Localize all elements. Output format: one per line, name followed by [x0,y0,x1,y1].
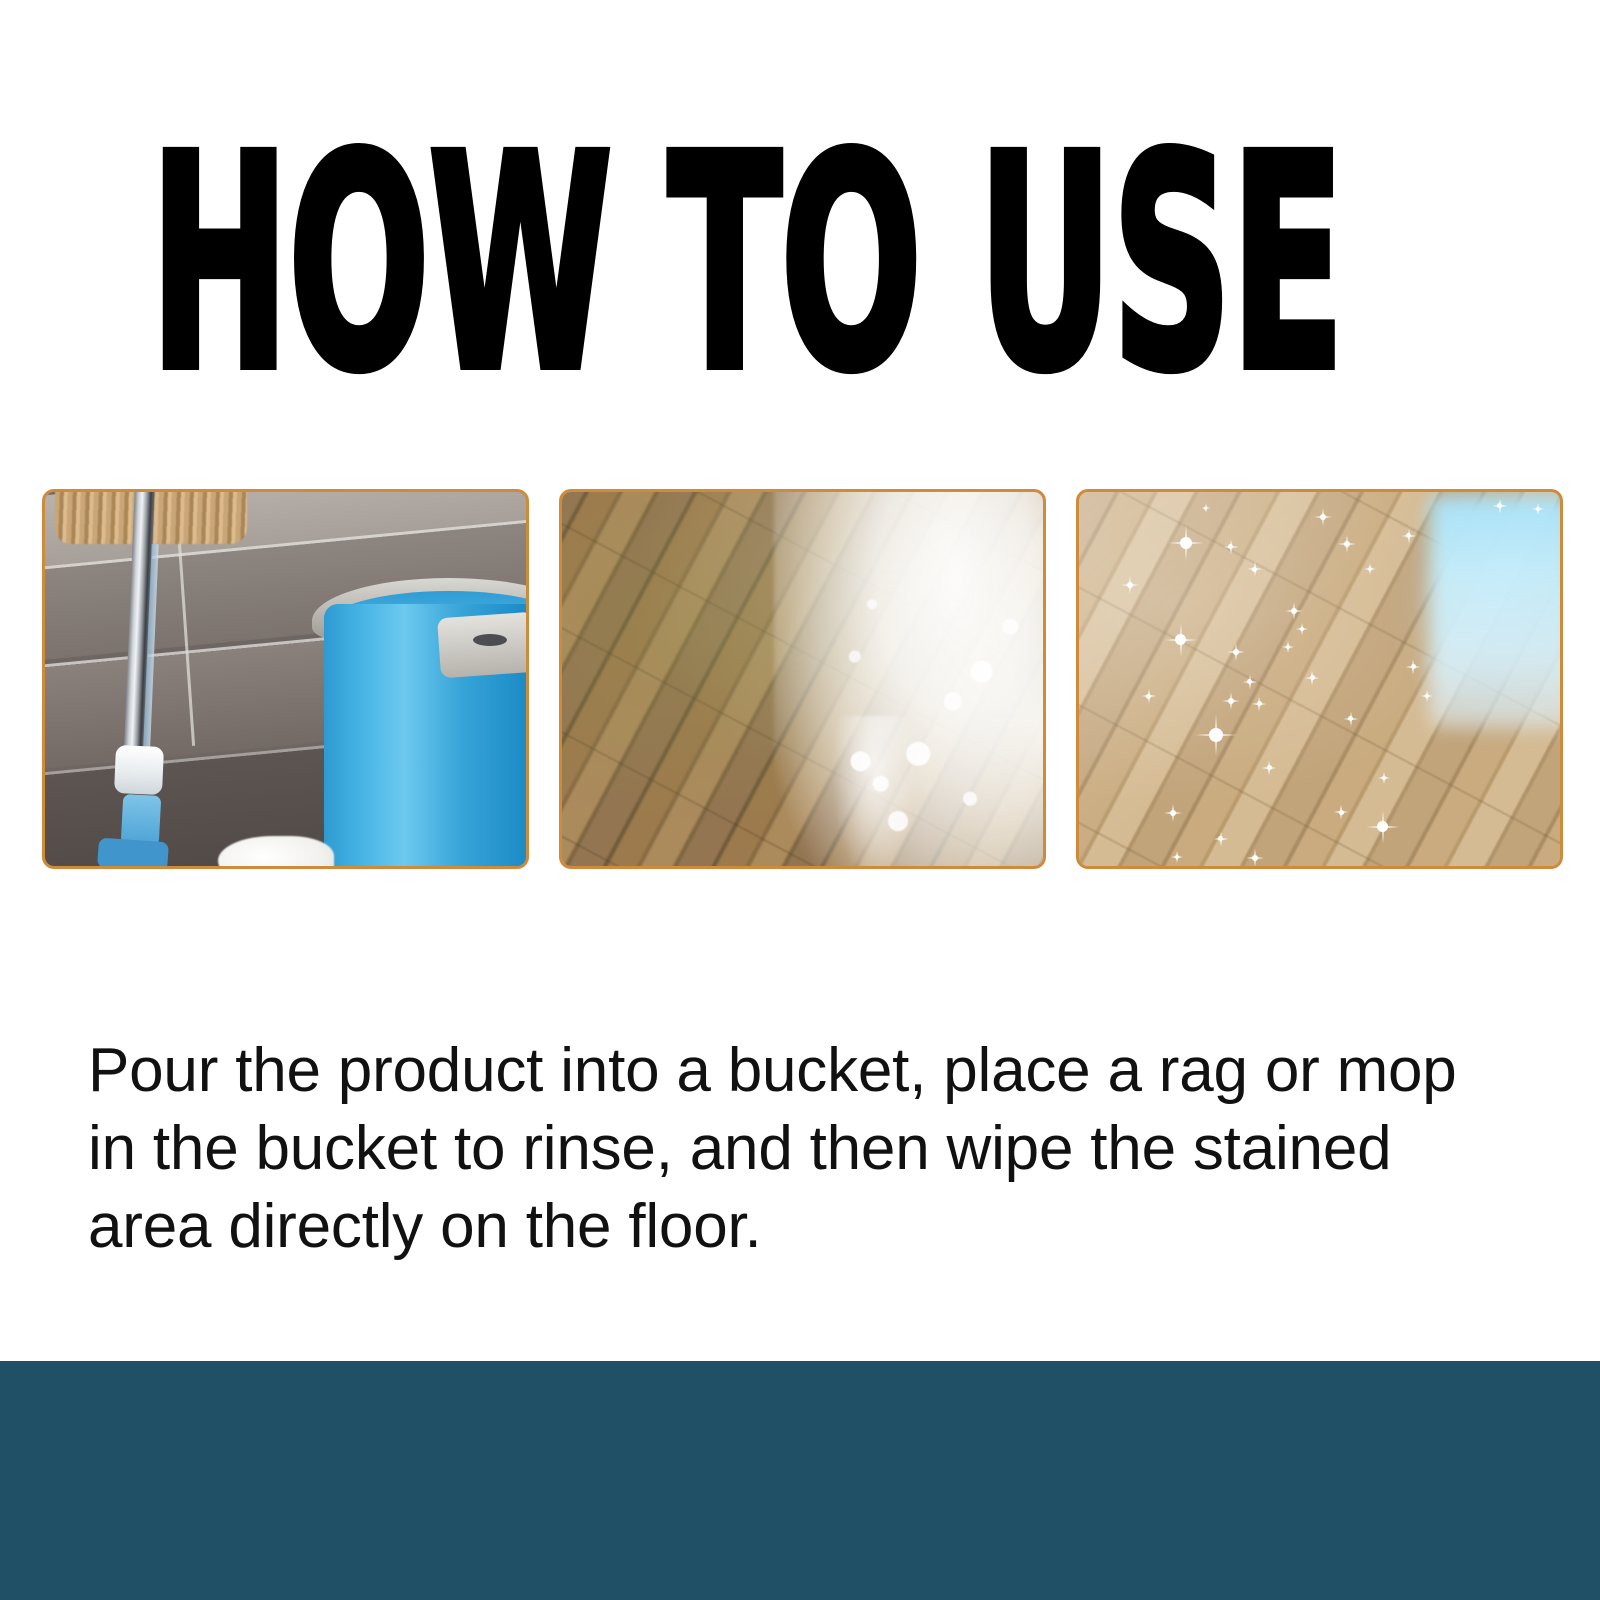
mop-head-icon [97,837,169,866]
soap-foam-trail [831,716,918,866]
sparkle-icon [1180,537,1192,549]
step-1-photo-panel [42,489,529,869]
mop-collar [114,745,164,795]
sparkle-icon [1411,664,1416,669]
sparkle-icon [1252,567,1257,572]
sparkle-icon [1267,765,1272,770]
sparkle-icon [1127,582,1133,588]
sparkle-icon [1300,627,1304,631]
how-to-use-infographic: HOW TO USE [0,0,1600,1600]
footer-band [0,1361,1600,1600]
clean-shiny-floor-photo [1079,492,1560,866]
sparkle-icon [1320,514,1326,520]
step-2-photo-panel [559,489,1046,869]
sparkle-icon [1344,541,1350,547]
instruction-text: Pour the product into a bucket, place a … [88,1032,1488,1266]
window-reflection-icon [1430,496,1560,728]
mop-neck [121,794,162,846]
sparkle-icon [1536,507,1540,511]
sparkle-icon [1204,507,1207,510]
page-title: HOW TO USE [150,150,1343,379]
mop-and-bucket-photo [45,492,526,866]
sparkle-icon [1228,698,1234,704]
sparkle-icon [1339,810,1344,815]
sparkle-icon [1368,567,1372,571]
sparkle-icon [1233,649,1239,655]
sparkle-icon [1175,855,1179,859]
step-image-gallery [42,489,1563,869]
sparkle-icon [1252,855,1258,861]
soapy-floor-photo [562,492,1043,866]
step-3-photo-panel [1076,489,1563,869]
sparkle-icon [1209,728,1223,742]
sparkle-icon [1291,608,1297,614]
page-title-container: HOW TO USE [150,150,1470,420]
